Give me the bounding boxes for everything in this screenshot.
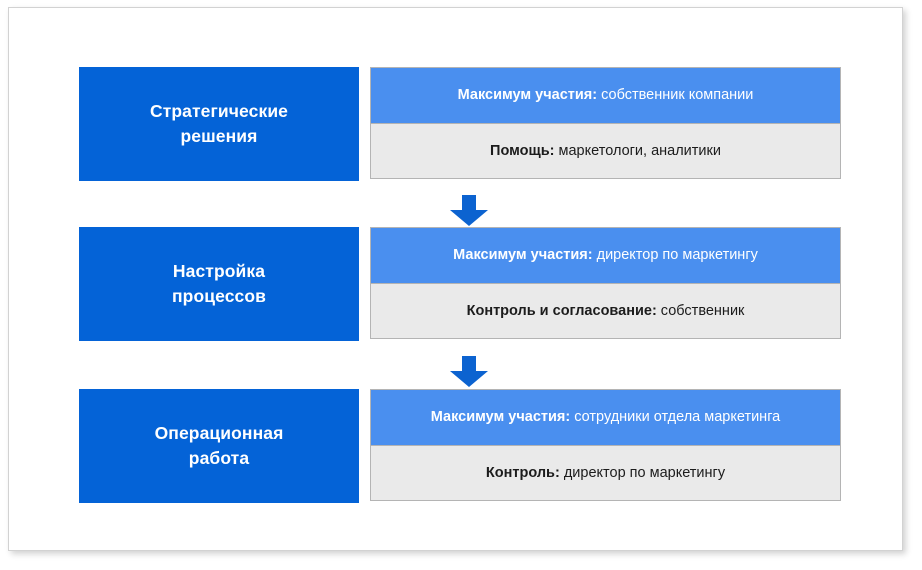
process-level-3: Операционная работа Максимум участия: со…	[79, 389, 841, 503]
row-value: сотрудники отдела маркетинга	[570, 409, 780, 425]
stage-label: Стратегические решения	[150, 99, 288, 149]
row-text: Контроль и согласование: собственник	[467, 302, 745, 320]
row-term: Максимум участия:	[453, 247, 592, 263]
row-term: Максимум участия:	[431, 409, 570, 425]
stage-label: Настройка процессов	[172, 259, 266, 309]
row-text: Максимум участия: сотрудники отдела марк…	[431, 408, 780, 426]
row-value: директор по маркетингу	[560, 465, 725, 481]
row-term: Контроль:	[486, 465, 560, 481]
process-level-2: Настройка процессов Максимум участия: ди…	[79, 227, 841, 341]
stage-box-operational-work: Операционная работа	[79, 389, 359, 503]
stage-box-process-setup: Настройка процессов	[79, 227, 359, 341]
row-term: Помощь:	[490, 143, 554, 159]
row-text: Помощь: маркетологи, аналитики	[490, 142, 721, 160]
row-value: собственник компании	[597, 87, 753, 103]
row-value: директор по маркетингу	[593, 247, 758, 263]
detail-panel-2: Максимум участия: директор по маркетингу…	[370, 227, 841, 339]
process-hierarchy-diagram: Стратегические решения Максимум участия:…	[9, 8, 904, 552]
row-value: собственник	[657, 303, 745, 319]
stage-box-strategic-decisions: Стратегические решения	[79, 67, 359, 181]
detail-row-primary: Максимум участия: собственник компании	[371, 68, 840, 123]
slide-card: Стратегические решения Максимум участия:…	[8, 7, 903, 551]
detail-row-secondary: Контроль: директор по маркетингу	[371, 445, 840, 500]
detail-row-primary: Максимум участия: директор по маркетингу	[371, 228, 840, 283]
detail-row-secondary: Контроль и согласование: собственник	[371, 283, 840, 338]
detail-panel-3: Максимум участия: сотрудники отдела марк…	[370, 389, 841, 501]
row-term: Максимум участия:	[458, 87, 597, 103]
detail-row-secondary: Помощь: маркетологи, аналитики	[371, 123, 840, 178]
arrow-down-icon	[449, 356, 489, 388]
detail-panel-1: Максимум участия: собственник компании П…	[370, 67, 841, 179]
detail-row-primary: Максимум участия: сотрудники отдела марк…	[371, 390, 840, 445]
row-term: Контроль и согласование:	[467, 303, 657, 319]
row-text: Максимум участия: директор по маркетингу	[453, 246, 758, 264]
process-level-1: Стратегические решения Максимум участия:…	[79, 67, 841, 181]
row-text: Контроль: директор по маркетингу	[486, 464, 725, 482]
row-text: Максимум участия: собственник компании	[458, 86, 754, 104]
arrow-down-icon	[449, 195, 489, 227]
row-value: маркетологи, аналитики	[555, 143, 721, 159]
stage-label: Операционная работа	[155, 421, 284, 471]
